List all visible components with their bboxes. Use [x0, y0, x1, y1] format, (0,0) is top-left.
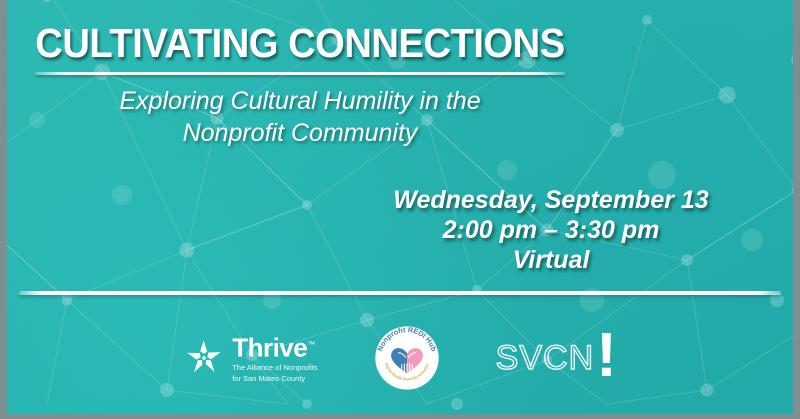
logo-svcn[interactable]: SVCN ! — [496, 333, 617, 383]
event-time: 2:00 pm – 3:30 pm — [351, 215, 751, 245]
thrive-name: Thrive — [232, 333, 307, 363]
thrive-lockup-text: Thrive™ The Alliance of Nonprofits for S… — [232, 332, 317, 384]
headline-block: CULTIVATING CONNECTIONS Exploring Cultur… — [7, 20, 593, 149]
thrive-tagline-line-2: for San Mateo County — [232, 374, 317, 384]
sponsor-logo-row: Thrive™ The Alliance of Nonprofits for S… — [7, 312, 793, 404]
subtitle: Exploring Cultural Humility in the Nonpr… — [7, 85, 593, 149]
subtitle-line-1: Exploring Cultural Humility in the — [7, 85, 593, 117]
subtitle-line-2: Nonprofit Community — [7, 117, 593, 149]
section-divider — [19, 291, 781, 295]
logo-nonprofit-redi-hub[interactable]: Nonprofit REDI Hub Racial Equity Diversi… — [374, 325, 440, 391]
svcn-wordmark: SVCN — [496, 341, 594, 375]
logo-thrive[interactable]: Thrive™ The Alliance of Nonprofits for S… — [183, 332, 317, 384]
redi-hub-badge: Nonprofit REDI Hub Racial Equity Diversi… — [374, 325, 440, 391]
star-burst-icon — [183, 337, 225, 379]
event-banner: CULTIVATING CONNECTIONS Exploring Cultur… — [0, 0, 800, 419]
thrive-tagline-line-1: The Alliance of Nonprofits — [232, 363, 317, 373]
banner-stage: CULTIVATING CONNECTIONS Exploring Cultur… — [7, 0, 793, 414]
event-date: Wednesday, September 13 — [351, 185, 751, 215]
page-title: CULTIVATING CONNECTIONS — [28, 20, 573, 66]
event-location: Virtual — [351, 245, 751, 275]
thrive-trademark-icon: ™ — [307, 340, 315, 349]
event-details: Wednesday, September 13 2:00 pm – 3:30 p… — [351, 185, 751, 275]
thrive-wordmark: Thrive™ — [232, 332, 317, 361]
title-underline-rule — [35, 72, 565, 75]
svcn-exclamation-icon: ! — [596, 331, 617, 381]
